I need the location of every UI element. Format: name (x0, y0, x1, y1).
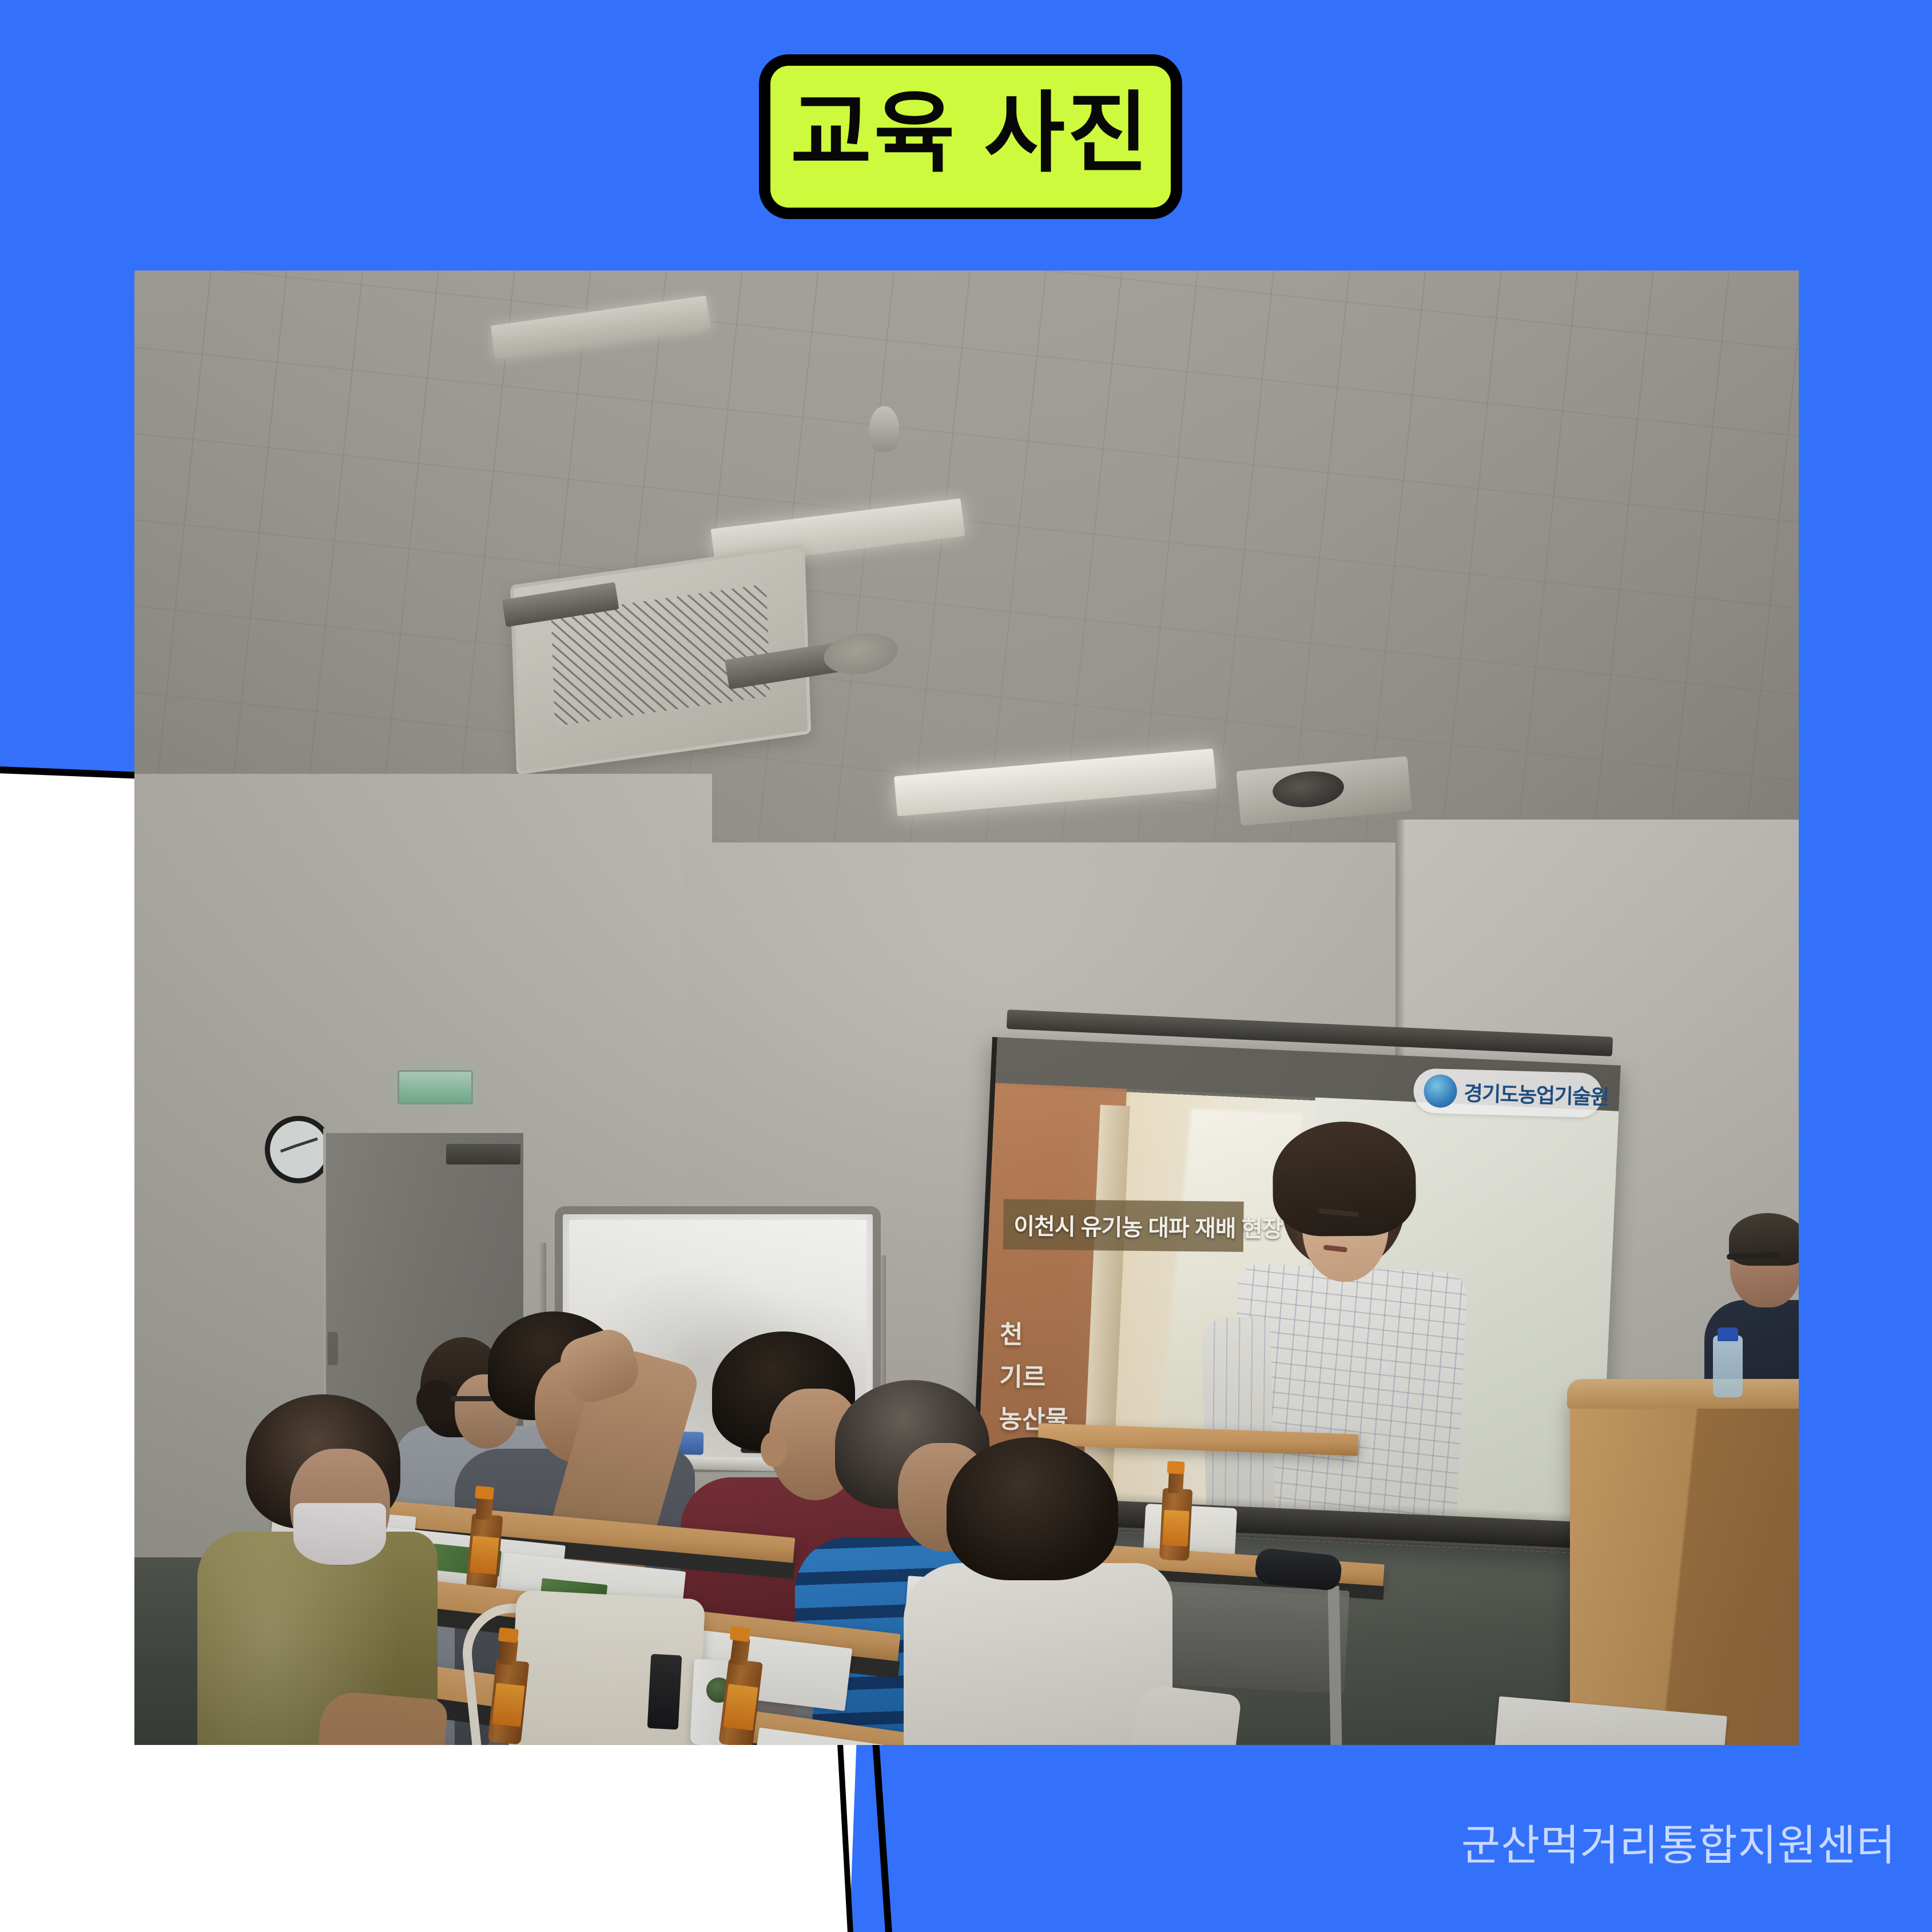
water-bottle (1713, 1335, 1743, 1397)
exit-sign-icon (397, 1070, 473, 1104)
tote-bag-tag (647, 1654, 682, 1730)
podium-top-surface (1567, 1379, 1799, 1409)
table-modesty-panel (1162, 1581, 1350, 1694)
video-person-hair (1273, 1121, 1416, 1237)
attendee-glasses-icon (450, 1396, 494, 1401)
video-caption-text: 이천시 유기농 대파 재배 현장 (1013, 1208, 1283, 1244)
page-title: 교육 사진 (790, 89, 1151, 177)
attendee-torso (904, 1563, 1172, 1745)
poster-canvas: 교육 사진 (0, 0, 1932, 1932)
bottle-cap (475, 1486, 494, 1500)
education-photo: 이천시 유기농 대파 재배 현장 천 기르 농산물 경기도농업기술원 (134, 271, 1799, 1745)
video-broadcaster-logo: 경기도농업기술원 (1413, 1068, 1603, 1118)
wall-clock-icon (265, 1116, 332, 1183)
bottle-cap (730, 1626, 751, 1642)
door-closer (446, 1144, 520, 1164)
attendee-hair (947, 1437, 1118, 1580)
video-logo-text: 경기도농업기술원 (1464, 1077, 1609, 1111)
attendee-ear (761, 1432, 787, 1467)
organization-name: 군산먹거리통합지원센터 (1461, 1811, 1896, 1873)
page-title-badge: 교육 사진 (759, 54, 1182, 219)
video-side-text-line-1: 천 (1000, 1314, 1103, 1351)
bottle-cap (498, 1627, 519, 1643)
bottle-label (723, 1684, 758, 1731)
face-mask-icon (293, 1503, 386, 1565)
bottle-label (1162, 1510, 1189, 1547)
sprinkler-head-icon (869, 406, 899, 452)
door-handle (328, 1332, 338, 1365)
logo-mark-icon (1424, 1074, 1458, 1108)
podium (1570, 1387, 1799, 1745)
water-bottle-cap (1718, 1327, 1738, 1341)
video-side-text-line-2: 기르 (999, 1356, 1103, 1394)
video-side-text-block: 천 기르 농산물 (999, 1314, 1103, 1436)
bottle-cap (1167, 1461, 1184, 1474)
bottle-label (492, 1683, 524, 1727)
video-caption-banner: 이천시 유기농 대파 재배 현장 (1003, 1199, 1244, 1252)
bottle-label (470, 1536, 499, 1575)
